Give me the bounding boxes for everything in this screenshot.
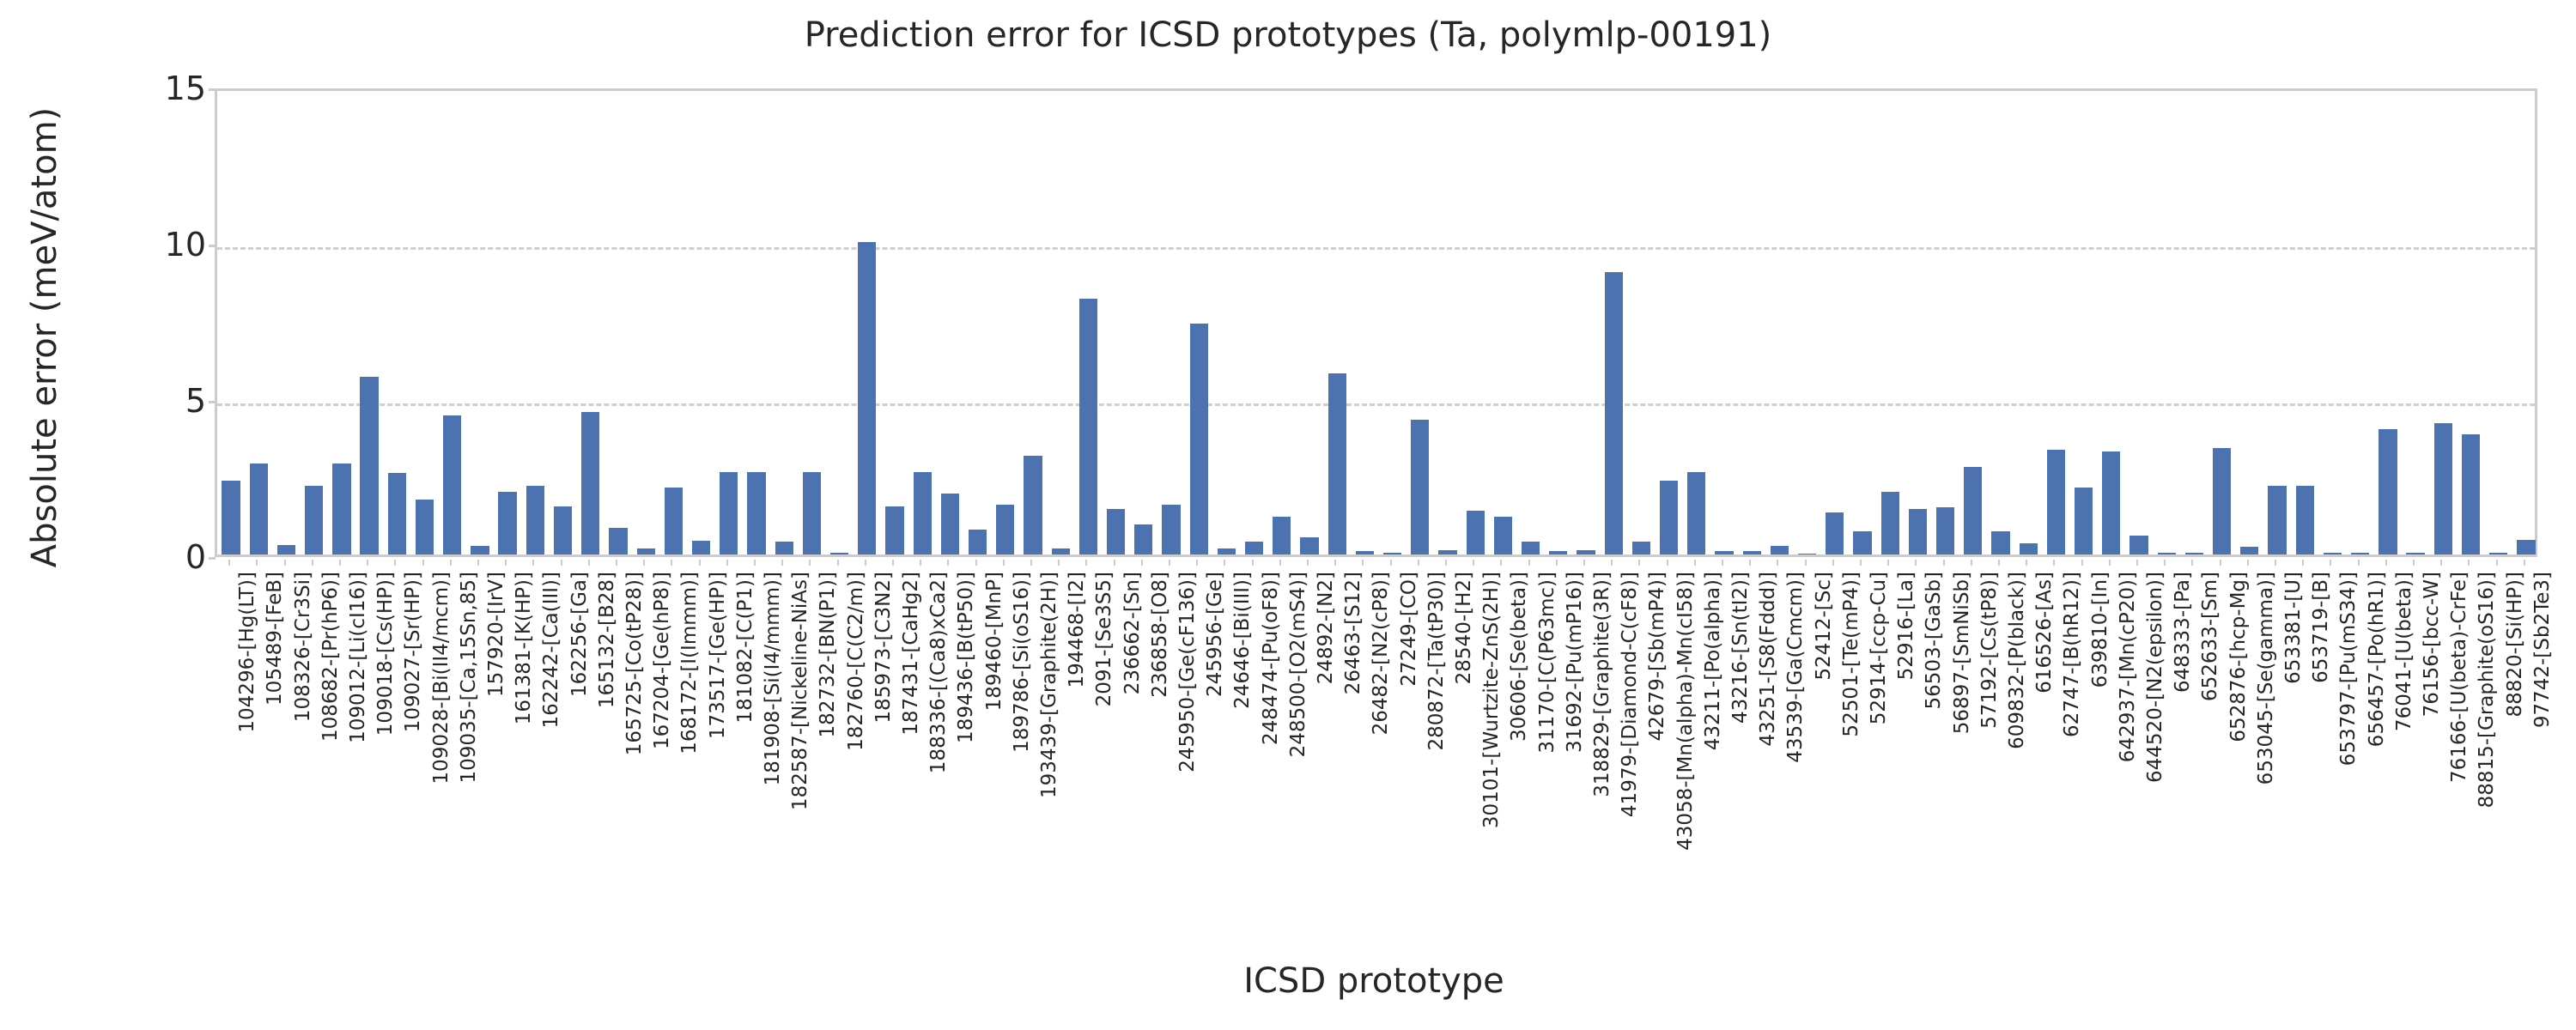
x-tick-label: 189436-[B(tP50)] (955, 572, 977, 743)
bar[interactable] (2268, 486, 2286, 554)
x-tick-label: 109027-[Sr(HP)] (402, 572, 424, 732)
bar[interactable] (803, 472, 821, 554)
x-tick-mark (1418, 560, 1419, 566)
bar[interactable] (1549, 551, 1567, 554)
x-tick-mark (2330, 560, 2331, 566)
x-tick-label: 194468-[I2] (1066, 572, 1088, 688)
y-tick-mark (209, 401, 216, 403)
x-tick-mark (256, 560, 258, 566)
x-tick-label: 43251-[S8(Fddd)] (1757, 572, 1779, 747)
x-tick-mark (1307, 560, 1309, 566)
bar[interactable] (996, 505, 1014, 554)
bar[interactable] (1383, 553, 1401, 554)
x-tick-label: 189786-[Si(oS16)] (1011, 572, 1033, 753)
bar[interactable] (2406, 553, 2424, 554)
x-tick-label: 616526-[As] (2033, 572, 2056, 694)
x-tick-label: 653719-[B] (2310, 572, 2332, 683)
x-tick-label: 52916-[La] (1895, 572, 1917, 680)
x-tick-mark (561, 560, 562, 566)
bar[interactable] (692, 541, 710, 554)
x-tick-label: 31170-[C(P63mc)] (1536, 572, 1558, 754)
x-tick-mark (1556, 560, 1558, 566)
x-tick-mark (422, 560, 424, 566)
x-tick-mark (2440, 560, 2442, 566)
x-tick-label: 318829-[Graphite(3R)] (1591, 572, 1613, 797)
bar[interactable] (1771, 546, 1789, 554)
x-tick-label: 31692-[Pu(mP16)] (1564, 572, 1586, 753)
x-tick-label: 181908-[Si(I4/mmm)] (762, 572, 784, 785)
x-tick-mark (1473, 560, 1474, 566)
x-tick-label: 653381-[U] (2282, 572, 2305, 684)
y-tick-label: 0 (34, 538, 206, 576)
bar[interactable] (305, 486, 323, 554)
bar[interactable] (1300, 537, 1318, 554)
x-tick-mark (2496, 560, 2498, 566)
x-tick-mark (1528, 560, 1530, 566)
bar[interactable] (2129, 536, 2148, 554)
x-tick-mark (1224, 560, 1225, 566)
x-tick-mark (2136, 560, 2138, 566)
x-tick-mark (1058, 560, 1060, 566)
x-tick-label: 157920-[IrV] (485, 572, 507, 697)
y-tick-label: 15 (34, 70, 206, 107)
x-tick-label: 182732-[BN(P1)] (817, 572, 839, 737)
bar[interactable] (1107, 509, 1125, 554)
x-tick-label: 24892-[N2] (1315, 572, 1337, 684)
x-tick-mark (1805, 560, 1807, 566)
bar[interactable] (2517, 540, 2535, 554)
x-tick-mark (450, 560, 452, 566)
x-tick-label: 656457-[Po(hR1)] (2366, 572, 2388, 747)
x-tick-mark (532, 560, 534, 566)
bar[interactable] (388, 473, 406, 554)
bar[interactable] (720, 472, 738, 554)
bar[interactable] (1024, 456, 1042, 554)
x-tick-mark (1971, 560, 1972, 566)
x-tick-mark (1114, 560, 1115, 566)
x-tick-label: 104296-[Hg(LT)] (236, 572, 258, 733)
bar[interactable] (2434, 423, 2452, 554)
x-tick-label: 185973-[C3N2] (872, 572, 895, 724)
y-tick-label: 10 (34, 226, 206, 264)
x-tick-mark (781, 560, 783, 566)
x-tick-label: 76156-[bcc-W] (2421, 572, 2443, 717)
bar[interactable] (2020, 543, 2038, 554)
x-tick-mark (394, 560, 396, 566)
x-tick-mark (947, 560, 949, 566)
bar[interactable] (332, 463, 350, 554)
bar[interactable] (1356, 551, 1374, 554)
x-tick-mark (1887, 560, 1889, 566)
x-tick-label: 30101-[Wurtzite-ZnS(2H)] (1480, 572, 1503, 828)
x-tick-label: 52501-[Te(mP4)] (1840, 572, 1862, 737)
x-tick-mark (2385, 560, 2387, 566)
x-tick-label: 236662-[Sn] (1121, 572, 1144, 694)
bar[interactable] (1052, 548, 1070, 554)
x-tick-label: 187431-[CaHg2] (900, 572, 922, 736)
x-tick-mark (2358, 560, 2360, 566)
x-tick-mark (2191, 560, 2193, 566)
x-tick-label: 26463-[S12] (1342, 572, 1364, 694)
x-tick-mark (1279, 560, 1281, 566)
bar[interactable] (581, 412, 599, 554)
bar[interactable] (1190, 324, 1208, 554)
x-tick-label: 43211-[Po(alpha)] (1702, 572, 1724, 750)
bar[interactable] (498, 492, 516, 554)
x-tick-label: 30606-[Se(beta)] (1508, 572, 1530, 742)
bar[interactable] (1245, 542, 1263, 554)
bar[interactable] (1577, 550, 1595, 554)
bar[interactable] (1134, 524, 1152, 554)
x-tick-label: 162242-[Ca(III)] (540, 572, 562, 729)
x-tick-mark (1943, 560, 1945, 566)
bar[interactable] (1909, 509, 1927, 554)
bar[interactable] (1660, 481, 1678, 554)
x-tick-mark (892, 560, 894, 566)
x-tick-mark (228, 560, 230, 566)
y-axis-label: Absolute error (meV/atom) (25, 71, 64, 603)
x-tick-label: 76166-[U(beta)-CrFe] (2448, 572, 2470, 783)
bar[interactable] (416, 500, 434, 554)
bar[interactable] (914, 472, 932, 554)
x-tick-mark (367, 560, 368, 566)
bar[interactable] (1605, 272, 1623, 554)
bar[interactable] (1743, 551, 1761, 554)
x-tick-mark (1252, 560, 1254, 566)
bar[interactable] (2213, 448, 2231, 554)
x-tick-label: 653045-[Se(gamma)] (2255, 572, 2277, 785)
bar[interactable] (1273, 517, 1291, 554)
bar[interactable] (2102, 451, 2120, 554)
x-tick-label: 182587-[Nickeline-NiAs] (789, 572, 811, 810)
x-tick-mark (1694, 560, 1696, 566)
bar[interactable] (277, 545, 295, 554)
page-title: Prediction error for ICSD prototypes (Ta… (0, 15, 2576, 55)
x-tick-label: 43539-[Ga(Cmcm)] (1784, 572, 1807, 763)
x-axis: 104296-[Hg(LT)]105489-[FeB]108326-[Cr3Si… (215, 560, 2537, 954)
x-tick-label: 236858-[O8] (1149, 572, 1171, 698)
bar[interactable] (885, 506, 903, 554)
x-tick-label: 24646-[Bi(III)] (1231, 572, 1254, 709)
bar[interactable] (1162, 505, 1180, 554)
bar[interactable] (1467, 511, 1485, 554)
x-tick-mark (1860, 560, 1862, 566)
x-tick-mark (1832, 560, 1834, 566)
bar[interactable] (941, 494, 959, 554)
bar[interactable] (637, 548, 655, 554)
x-tick-label: 97742-[Sb2Te3] (2531, 572, 2554, 728)
x-tick-mark (588, 560, 590, 566)
x-tick-mark (1141, 560, 1143, 566)
x-tick-label: 88820-[Si(HP)] (2504, 572, 2526, 718)
x-tick-label: 173517-[Ge(HP)] (707, 572, 729, 739)
x-tick-mark (1667, 560, 1668, 566)
bar[interactable] (1687, 472, 1705, 554)
bar[interactable] (1798, 554, 1816, 554)
x-tick-mark (1362, 560, 1364, 566)
x-tick-label: 248474-[Pu(oF8)] (1260, 572, 1282, 745)
bar[interactable] (2240, 547, 2258, 554)
bar[interactable] (1826, 512, 1844, 554)
x-tick-label: 56503-[GaSb] (1923, 572, 1945, 710)
bar-chart-figure: Prediction error for ICSD prototypes (Ta… (0, 0, 2576, 1030)
x-tick-label: 165725-[Co(tP28)] (623, 572, 646, 755)
x-tick-label: 161381-[K(HP)] (513, 572, 535, 724)
bar[interactable] (1411, 420, 1429, 554)
x-tick-label: 193439-[Graphite(2H)] (1038, 572, 1060, 798)
x-tick-mark (2164, 560, 2166, 566)
plot-area (215, 88, 2537, 557)
x-tick-label: 109028-[Bi(II4/mcm)] (430, 572, 453, 785)
x-axis-label: ICSD prototype (215, 961, 2533, 1001)
x-tick-label: 52914-[ccp-Cu] (1868, 572, 1890, 724)
bar[interactable] (1438, 550, 1456, 554)
bar[interactable] (1853, 531, 1871, 554)
x-tick-label: 109035-[Ca,15Sn,85] (458, 572, 480, 784)
x-tick-mark (865, 560, 866, 566)
bar[interactable] (2324, 553, 2342, 554)
bar[interactable] (2185, 553, 2203, 554)
bar[interactable] (1522, 542, 1540, 554)
bar[interactable] (2489, 553, 2507, 554)
bar[interactable] (665, 488, 683, 554)
bar[interactable] (526, 486, 544, 554)
x-tick-label: 189460-[MnP] (983, 572, 1005, 711)
x-tick-label: 88815-[Graphite(oS16)] (2476, 572, 2498, 808)
x-tick-mark (1085, 560, 1087, 566)
x-tick-label: 2091-[Se3S5] (1093, 572, 1115, 706)
bar[interactable] (2047, 450, 2065, 554)
x-tick-label: 182760-[C(C2/m)] (845, 572, 867, 751)
bar[interactable] (830, 553, 848, 554)
bar[interactable] (2379, 429, 2397, 554)
x-tick-mark (1500, 560, 1502, 566)
bar[interactable] (1715, 551, 1733, 554)
x-tick-mark (837, 560, 839, 566)
x-tick-mark (2109, 560, 2111, 566)
x-tick-label: 109012-[Li(cI16)] (347, 572, 369, 743)
x-tick-mark (1915, 560, 1917, 566)
bar[interactable] (2351, 553, 2369, 554)
bar[interactable] (554, 506, 572, 554)
x-tick-mark (2302, 560, 2304, 566)
y-tick-label: 5 (34, 382, 206, 420)
bar[interactable] (1964, 467, 1982, 554)
x-tick-mark (284, 560, 286, 566)
x-tick-mark (643, 560, 645, 566)
bar[interactable] (360, 377, 378, 554)
x-tick-mark (1722, 560, 1723, 566)
x-tick-label: 245950-[Ge(cF136)] (1176, 572, 1199, 772)
x-tick-mark (1169, 560, 1170, 566)
bar[interactable] (2075, 488, 2093, 554)
x-tick-mark (616, 560, 617, 566)
y-tick-mark (209, 245, 216, 247)
bar[interactable] (775, 542, 793, 554)
x-tick-mark (339, 560, 341, 566)
x-tick-mark (2247, 560, 2249, 566)
bar[interactable] (1936, 507, 1954, 554)
bar[interactable] (858, 242, 876, 554)
x-tick-label: 43216-[Sn(tI2)] (1729, 572, 1752, 724)
bar[interactable] (1881, 492, 1899, 554)
x-tick-mark (1998, 560, 2000, 566)
x-tick-label: 57192-[Cs(tP8)] (1978, 572, 2001, 729)
bar[interactable] (2158, 553, 2176, 554)
x-tick-label: 76041-[U(beta)] (2393, 572, 2415, 731)
bar[interactable] (471, 546, 489, 554)
x-tick-mark (920, 560, 921, 566)
x-tick-mark (1749, 560, 1751, 566)
x-tick-mark (699, 560, 701, 566)
x-tick-mark (1583, 560, 1585, 566)
x-tick-mark (1334, 560, 1336, 566)
bar[interactable] (2296, 486, 2314, 554)
x-tick-label: 609832-[P(black)] (2006, 572, 2028, 749)
x-tick-label: 26482-[N2(cP8)] (1370, 572, 1392, 735)
x-tick-mark (1638, 560, 1640, 566)
x-tick-mark (2413, 560, 2415, 566)
x-tick-label: 109018-[Cs(HP)] (374, 572, 397, 736)
x-tick-mark (505, 560, 507, 566)
x-tick-label: 105489-[FeB] (264, 572, 286, 706)
x-tick-mark (1777, 560, 1778, 566)
x-tick-mark (2081, 560, 2083, 566)
x-tick-label: 168172-[I(Immm)] (678, 572, 701, 754)
x-tick-mark (1445, 560, 1447, 566)
x-tick-mark (2275, 560, 2276, 566)
y-tick-mark (209, 88, 216, 91)
x-tick-mark (1003, 560, 1005, 566)
x-tick-mark (1390, 560, 1392, 566)
bar[interactable] (1218, 548, 1236, 554)
x-tick-label: 181082-[C(P1)] (734, 572, 756, 724)
x-tick-label: 108682-[Pr(hP6)] (319, 572, 342, 742)
x-tick-mark (809, 560, 811, 566)
x-tick-label: 52412-[Sc] (1813, 572, 1835, 681)
bar[interactable] (969, 530, 987, 554)
bar[interactable] (1328, 373, 1346, 554)
x-tick-label: 652876-[hcp-Mg] (2227, 572, 2250, 742)
bar[interactable] (747, 472, 765, 554)
x-tick-mark (671, 560, 672, 566)
x-tick-label: 280872-[Ta(tP30)] (1425, 572, 1448, 750)
x-tick-label: 162256-[Ga] (568, 572, 591, 697)
x-tick-label: 41979-[Diamond-C(cF8)] (1619, 572, 1641, 817)
bar[interactable] (1991, 531, 2009, 554)
x-tick-label: 248500-[O2(mS4)] (1287, 572, 1309, 757)
x-tick-label: 42679-[Sb(mP4)] (1646, 572, 1668, 741)
x-tick-mark (312, 560, 313, 566)
x-tick-mark (2524, 560, 2525, 566)
x-tick-mark (726, 560, 728, 566)
x-tick-mark (2053, 560, 2055, 566)
x-tick-label: 245956-[Ge] (1204, 572, 1226, 697)
x-tick-label: 644520-[N2(epsilon)] (2144, 572, 2166, 783)
x-tick-mark (975, 560, 977, 566)
x-tick-label: 108326-[Cr3Si] (292, 572, 314, 722)
x-tick-mark (1196, 560, 1198, 566)
x-tick-label: 652633-[Sm] (2199, 572, 2221, 701)
x-tick-label: 165132-[B28] (596, 572, 618, 708)
x-tick-mark (2220, 560, 2221, 566)
x-tick-mark (1611, 560, 1613, 566)
x-tick-label: 56897-[SmNiSb] (1951, 572, 1973, 734)
x-tick-mark (2026, 560, 2027, 566)
bar[interactable] (609, 528, 627, 554)
x-tick-mark (477, 560, 479, 566)
x-tick-label: 188336-[(Ca8)xCa2] (927, 572, 950, 773)
x-tick-label: 27249-[CO] (1398, 572, 1420, 687)
bar[interactable] (2462, 434, 2480, 554)
x-tick-label: 639810-[In] (2089, 572, 2111, 688)
x-tick-mark (754, 560, 756, 566)
x-tick-label: 43058-[Mn(alpha)-Mn(cI58)] (1674, 572, 1697, 851)
x-tick-label: 642937-[Mn(cP20)] (2117, 572, 2139, 762)
x-tick-label: 653797-[Pu(mS34)] (2337, 572, 2360, 766)
bar-series (217, 91, 2535, 554)
x-tick-label: 167204-[Ge(hP8)] (651, 572, 673, 749)
x-tick-label: 28540-[H2] (1453, 572, 1475, 684)
x-tick-label: 648333-[Pa] (2172, 572, 2194, 693)
bar[interactable] (222, 481, 240, 554)
bar[interactable] (443, 415, 461, 554)
bar[interactable] (1079, 299, 1097, 554)
x-tick-mark (1030, 560, 1032, 566)
bar[interactable] (250, 463, 268, 554)
x-tick-mark (2468, 560, 2470, 566)
x-tick-label: 62747-[B(hR12)] (2061, 572, 2083, 737)
bar[interactable] (1632, 542, 1650, 554)
bar[interactable] (1494, 517, 1512, 554)
